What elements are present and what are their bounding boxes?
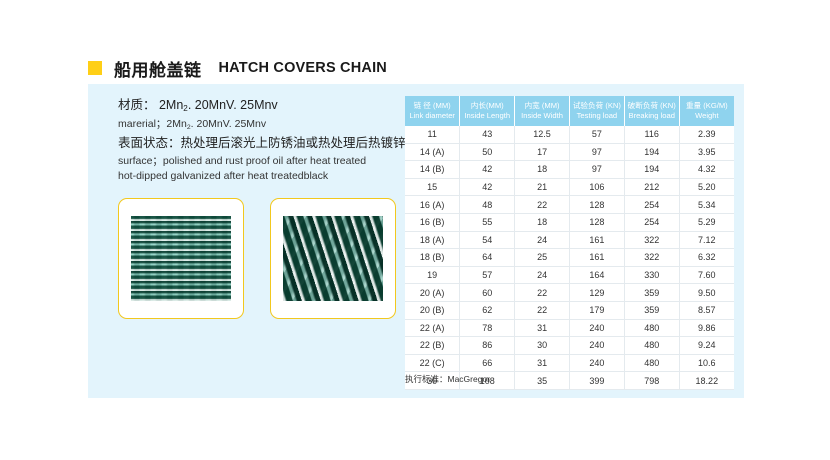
table-cell: 9.86	[679, 319, 734, 337]
table-cell: 78	[460, 319, 515, 337]
table-cell: 57	[460, 266, 515, 284]
table-cell: 399	[569, 372, 624, 390]
table-cell: 55	[460, 213, 515, 231]
table-cell: 322	[624, 231, 679, 249]
table-cell: 129	[569, 284, 624, 302]
surface-line-en-1: surface；polished and rust proof oil afte…	[118, 153, 418, 169]
surface-line-cn: 表面状态：热处理后滚光上防锈油或热处理后热镀锌	[118, 134, 418, 153]
table-cell: 24	[515, 231, 570, 249]
table-cell: 194	[624, 143, 679, 161]
chain-photo-tangled-image	[283, 216, 383, 301]
table-cell: 480	[624, 354, 679, 372]
table-cell: 60	[460, 284, 515, 302]
table-row: 114312.5571162.39	[405, 126, 734, 143]
table-cell: 22	[515, 284, 570, 302]
table-cell: 240	[569, 319, 624, 337]
table-cell: 66	[460, 354, 515, 372]
table-cell: 20 (A)	[405, 284, 460, 302]
table-cell: 15	[405, 178, 460, 196]
table-row: 22 (C)663124048010.6	[405, 354, 734, 372]
table-cell: 16 (B)	[405, 213, 460, 231]
table-cell: 14 (A)	[405, 143, 460, 161]
table-cell: 24	[515, 266, 570, 284]
material-line-en: marerial；2Mn2. 20MnV. 25Mnv	[118, 116, 418, 134]
table-cell: 22 (C)	[405, 354, 460, 372]
table-cell: 97	[569, 161, 624, 179]
table-row: 22 (B)86302404809.24	[405, 337, 734, 355]
table-cell: 8.57	[679, 301, 734, 319]
table-row: 18 (B)64251613226.32	[405, 249, 734, 267]
material-line-cn: 材质： 2Mn2. 20MnV. 25Mnv	[118, 96, 418, 116]
table-cell: 16 (A)	[405, 196, 460, 214]
table-cell: 18.22	[679, 372, 734, 390]
table-cell: 7.60	[679, 266, 734, 284]
table-cell: 21	[515, 178, 570, 196]
table-cell: 359	[624, 301, 679, 319]
table-cell: 35	[515, 372, 570, 390]
content-panel: 材质： 2Mn2. 20MnV. 25Mnv marerial；2Mn2. 20…	[88, 84, 744, 398]
table-header-inside-width: 内宽 (MM) Inside Width	[515, 96, 570, 126]
table-cell: 62	[460, 301, 515, 319]
table-cell: 330	[624, 266, 679, 284]
table-cell: 30	[515, 337, 570, 355]
table-cell: 798	[624, 372, 679, 390]
table-cell: 11	[405, 126, 460, 143]
table-cell: 5.20	[679, 178, 734, 196]
table-cell: 4.32	[679, 161, 734, 179]
table-row: 16 (A)48221282545.34	[405, 196, 734, 214]
table-row: 16 (B)55181282545.29	[405, 213, 734, 231]
chain-photo-tangled	[270, 198, 396, 319]
page-title-cn: 船用舱盖链	[114, 56, 202, 81]
table-row: 18 (A)54241613227.12	[405, 231, 734, 249]
table-cell: 54	[460, 231, 515, 249]
table-header-testing-load: 试验负荷 (KN) Testing load	[569, 96, 624, 126]
table-cell: 240	[569, 354, 624, 372]
table-cell: 97	[569, 143, 624, 161]
table-cell: 25	[515, 249, 570, 267]
spec-table: 链 径 (MM) Link diameter 内长(MM) Inside Len…	[405, 96, 734, 390]
table-cell: 18	[515, 213, 570, 231]
page-title: 船用舱盖链 HATCH COVERS CHAIN	[88, 56, 387, 80]
table-cell: 43	[460, 126, 515, 143]
table-cell: 31	[515, 319, 570, 337]
table-standard-note: 执行标准：MacGregor	[405, 373, 490, 385]
table-cell: 50	[460, 143, 515, 161]
surface-line-en-2: hot-dipped galvanized after heat treated…	[118, 169, 418, 184]
table-row: 14 (A)5017971943.95	[405, 143, 734, 161]
table-cell: 480	[624, 319, 679, 337]
table-cell: 12.5	[515, 126, 570, 143]
table-cell: 48	[460, 196, 515, 214]
table-cell: 31	[515, 354, 570, 372]
yellow-square-marker-icon	[88, 61, 102, 75]
spec-table-body: 114312.5571162.3914 (A)5017971943.9514 (…	[405, 126, 734, 389]
table-cell: 212	[624, 178, 679, 196]
table-cell: 128	[569, 196, 624, 214]
table-cell: 86	[460, 337, 515, 355]
table-cell: 9.50	[679, 284, 734, 302]
table-header-breaking-load: 破断负荷 (KN) Breaking load	[624, 96, 679, 126]
table-row: 20 (A)60221293599.50	[405, 284, 734, 302]
table-header-inside-length: 内长(MM) Inside Length	[460, 96, 515, 126]
table-cell: 14 (B)	[405, 161, 460, 179]
table-header-row: 链 径 (MM) Link diameter 内长(MM) Inside Len…	[405, 96, 734, 126]
table-cell: 359	[624, 284, 679, 302]
table-cell: 161	[569, 249, 624, 267]
table-cell: 42	[460, 178, 515, 196]
table-cell: 22	[515, 196, 570, 214]
table-cell: 9.24	[679, 337, 734, 355]
table-cell: 7.12	[679, 231, 734, 249]
table-cell: 322	[624, 249, 679, 267]
table-cell: 116	[624, 126, 679, 143]
table-cell: 164	[569, 266, 624, 284]
table-cell: 5.29	[679, 213, 734, 231]
table-row: 22 (A)78312404809.86	[405, 319, 734, 337]
table-row: 1542211062125.20	[405, 178, 734, 196]
spec-text-block: 材质： 2Mn2. 20MnV. 25Mnv marerial；2Mn2. 20…	[118, 96, 418, 184]
table-cell: 18	[515, 161, 570, 179]
table-cell: 5.34	[679, 196, 734, 214]
page-title-en: HATCH COVERS CHAIN	[219, 60, 387, 76]
table-cell: 2.39	[679, 126, 734, 143]
table-cell: 18 (A)	[405, 231, 460, 249]
table-cell: 18 (B)	[405, 249, 460, 267]
table-cell: 20 (B)	[405, 301, 460, 319]
table-cell: 194	[624, 161, 679, 179]
table-row: 14 (B)4218971944.32	[405, 161, 734, 179]
table-cell: 22	[515, 301, 570, 319]
table-cell: 3.95	[679, 143, 734, 161]
table-header-link-diameter: 链 径 (MM) Link diameter	[405, 96, 460, 126]
table-header-weight: 重量 (KG/M) Weight	[679, 96, 734, 126]
table-cell: 64	[460, 249, 515, 267]
table-row: 1957241643307.60	[405, 266, 734, 284]
table-cell: 480	[624, 337, 679, 355]
table-cell: 22 (B)	[405, 337, 460, 355]
table-row: 20 (B)62221793598.57	[405, 301, 734, 319]
table-cell: 254	[624, 213, 679, 231]
table-cell: 10.6	[679, 354, 734, 372]
table-cell: 22 (A)	[405, 319, 460, 337]
table-cell: 179	[569, 301, 624, 319]
table-cell: 254	[624, 196, 679, 214]
table-cell: 6.32	[679, 249, 734, 267]
spec-table-wrapper: 链 径 (MM) Link diameter 内长(MM) Inside Len…	[405, 96, 734, 390]
table-cell: 240	[569, 337, 624, 355]
chain-photo-horizontal-rows	[118, 198, 244, 319]
table-cell: 57	[569, 126, 624, 143]
table-cell: 106	[569, 178, 624, 196]
product-photo-gallery	[118, 198, 396, 319]
table-cell: 19	[405, 266, 460, 284]
table-cell: 17	[515, 143, 570, 161]
chain-photo-horizontal-rows-image	[131, 216, 231, 301]
table-cell: 128	[569, 213, 624, 231]
table-cell: 42	[460, 161, 515, 179]
table-cell: 161	[569, 231, 624, 249]
